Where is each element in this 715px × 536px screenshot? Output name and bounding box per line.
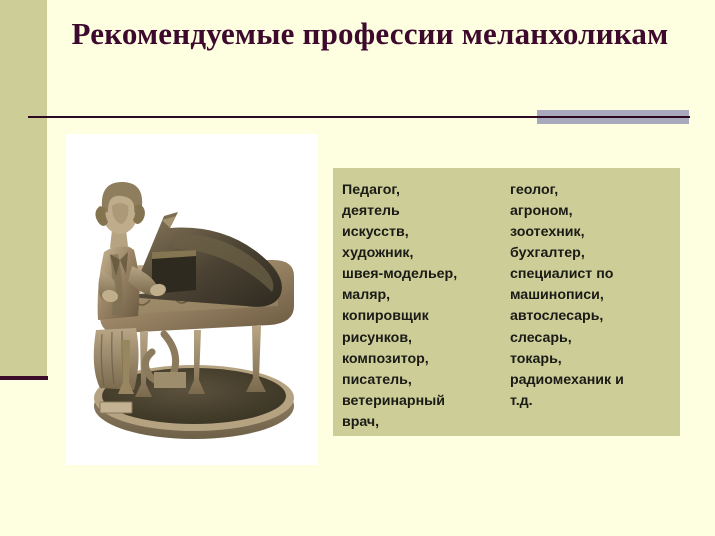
statue-image <box>66 134 318 465</box>
page-title: Рекомендуемые профессии меланхоликам <box>70 14 670 54</box>
professions-columns: Педагог, деятель искусств, художник, шве… <box>342 180 670 433</box>
professions-textbox: Педагог, деятель искусств, художник, шве… <box>333 168 680 436</box>
header-divider-line <box>28 116 690 118</box>
left-accent-rule <box>0 376 48 380</box>
professions-column-left: Педагог, деятель искусств, художник, шве… <box>342 180 510 433</box>
bronze-pianist-statue-icon <box>66 134 318 465</box>
professions-column-right: геолог, агроном, зоотехник, бухгалтер, с… <box>510 180 670 412</box>
slide-canvas: Рекомендуемые профессии меланхоликам <box>0 0 715 536</box>
left-accent-band <box>0 0 47 376</box>
